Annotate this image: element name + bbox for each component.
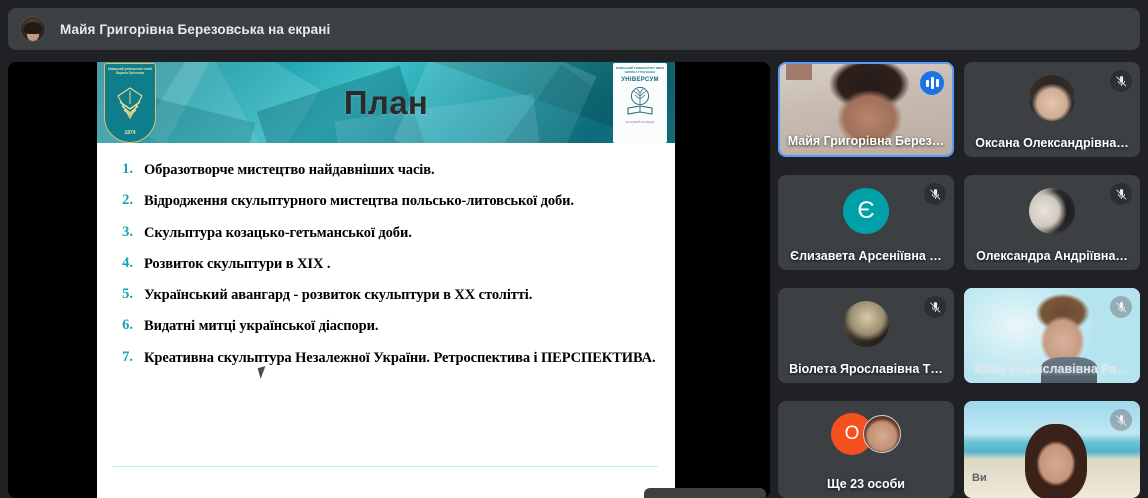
participant-tile-oleksandra[interactable]: Олександра Андріївна… xyxy=(964,175,1140,270)
universum-university-line: КИЇВСЬКИЙ УНІВЕРСИТЕТ ІМЕНІ БОРИСА ГРІНЧ… xyxy=(613,66,667,74)
plan-item-number: 2. xyxy=(109,192,133,210)
plan-list-item: 2. Відродження скульптурного мистецтва п… xyxy=(109,192,659,210)
crest-year: 1874 xyxy=(105,130,155,136)
avatar xyxy=(1029,188,1075,234)
audio-active-icon xyxy=(920,71,944,95)
university-crest-logo: Київський університет імені Бориса Грінч… xyxy=(104,63,156,143)
participant-name: Оксана Олександрівна… xyxy=(964,136,1140,150)
participant-tile-violeta[interactable]: Віолета Ярославівна Т… xyxy=(778,288,954,383)
self-view-tile[interactable]: Ви xyxy=(964,401,1140,498)
plan-list-item: 5. Український авангард - розвиток скуль… xyxy=(109,286,659,304)
participant-name: Віолета Ярославівна Т… xyxy=(778,362,954,376)
slide-divider xyxy=(113,466,658,468)
mic-off-glyph xyxy=(1115,75,1128,88)
plan-item-text: Образотворче мистецтво найдавніших часів… xyxy=(133,161,434,179)
self-view-label: Ви xyxy=(972,472,987,484)
screen-share-stage[interactable]: План Київський університет імені Бориса … xyxy=(8,62,770,498)
plan-list-item: 7. Креативна скульптура Незалежної Украї… xyxy=(109,349,659,367)
participant-tile-yelyzaveta[interactable]: Є Єлизавета Арсеніївна … xyxy=(778,175,954,270)
universum-logo: КИЇВСЬКИЙ УНІВЕРСИТЕТ ІМЕНІ БОРИСА ГРІНЧ… xyxy=(613,63,667,143)
mic-off-glyph xyxy=(929,188,942,201)
shared-slide: План Київський університет імені Бориса … xyxy=(97,62,675,498)
universum-name: УНІВЕРСУМ xyxy=(621,77,659,83)
participant-name: Олександра Андріївна… xyxy=(964,249,1140,263)
presenting-banner: Майя Григорівна Березовська на екрані xyxy=(8,8,1140,50)
avatar xyxy=(843,301,889,347)
avatar xyxy=(863,415,901,453)
participant-grid: Майя Григорівна Берез… Оксана Олександрі… xyxy=(778,62,1140,498)
mic-muted-icon xyxy=(1110,409,1132,431)
plan-item-number: 5. xyxy=(109,286,133,304)
plan-list-item: 3. Скульптура козацько-гетьманської доби… xyxy=(109,224,659,242)
slide-banner: План Київський університет імені Бориса … xyxy=(97,62,675,143)
self-video-subject xyxy=(1025,424,1087,498)
plan-item-number: 4. xyxy=(109,255,133,273)
overflow-avatars: О xyxy=(831,413,901,455)
mic-off-glyph xyxy=(1115,188,1128,201)
plan-item-text: Український авангард - розвиток скульпту… xyxy=(133,286,532,304)
plan-item-text: Креативна скульптура Незалежної України.… xyxy=(133,349,656,367)
plan-item-number: 6. xyxy=(109,317,133,335)
mic-muted-icon xyxy=(1110,70,1132,92)
mic-off-glyph xyxy=(929,301,942,314)
plan-item-text: Відродження скульптурного мистецтва поль… xyxy=(133,192,574,210)
mic-muted-icon xyxy=(1110,183,1132,205)
crest-university-name: Київський університет імені Бориса Грінч… xyxy=(105,67,155,76)
presenting-label: Майя Григорівна Березовська на екрані xyxy=(60,22,330,37)
participant-name: Юлія Станіславівна Ря… xyxy=(964,362,1140,376)
plan-list: 1. Образотворче мистецтво найдавніших ча… xyxy=(97,143,675,367)
slide-title: План xyxy=(97,62,675,143)
presenter-avatar xyxy=(20,16,46,42)
more-participants-tile[interactable]: О Ще 23 особи xyxy=(778,401,954,498)
plan-item-number: 3. xyxy=(109,224,133,242)
mic-muted-icon xyxy=(1110,296,1132,318)
more-participants-label: Ще 23 особи xyxy=(778,477,954,491)
participant-tile-yuliia[interactable]: Юлія Станіславівна Ря… xyxy=(964,288,1140,383)
plan-list-item: 6. Видатні митці української діаспори. xyxy=(109,317,659,335)
mic-muted-icon xyxy=(924,296,946,318)
universum-subtitle: ФАХОВИЙ КОЛЕДЖ xyxy=(625,120,654,124)
avatar xyxy=(1029,75,1075,121)
stage-bottom-strip xyxy=(644,488,766,498)
participant-tile-maya[interactable]: Майя Григорівна Берез… xyxy=(778,62,954,157)
plan-item-text: Розвиток скульптури в XIX . xyxy=(133,255,330,273)
plan-item-number: 7. xyxy=(109,349,133,367)
plan-list-item: 4. Розвиток скульптури в XIX . xyxy=(109,255,659,273)
plan-item-text: Видатні митці української діаспори. xyxy=(133,317,378,335)
participant-name: Єлизавета Арсеніївна … xyxy=(778,249,954,263)
mic-off-glyph xyxy=(1115,414,1128,427)
plan-item-text: Скульптура козацько-гетьманської доби. xyxy=(133,224,412,242)
plan-item-number: 1. xyxy=(109,161,133,179)
avatar-initial: Є xyxy=(843,188,889,234)
plan-list-item: 1. Образотворче мистецтво найдавніших ча… xyxy=(109,161,659,179)
participant-tile-oksana[interactable]: Оксана Олександрівна… xyxy=(964,62,1140,157)
mic-muted-icon xyxy=(924,183,946,205)
tree-book-icon xyxy=(625,85,655,119)
participant-name: Майя Григорівна Берез… xyxy=(780,134,952,148)
crest-emblem-icon xyxy=(113,84,147,122)
mic-off-glyph xyxy=(1115,301,1128,314)
